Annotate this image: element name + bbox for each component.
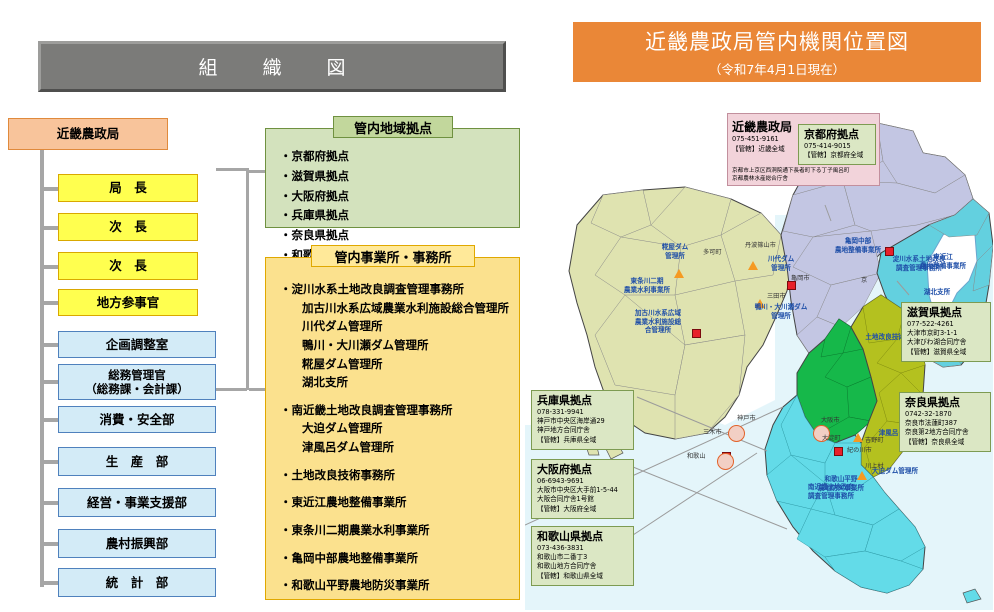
regional-bases-list: ・京都府拠点 ・滋賀県拠点 ・大阪府拠点 ・兵庫県拠点 ・奈良県拠点 ・和歌山県… bbox=[265, 128, 520, 228]
list-item[interactable]: ・東近江農地整備事業所 bbox=[280, 493, 509, 512]
kinki-hq-address-line2: 京都農林水産総合庁舎 bbox=[732, 175, 849, 183]
list-item[interactable]: ・亀岡中部農地整備事業所 bbox=[280, 549, 509, 568]
org-node-deputy-director-2[interactable]: 次 長 bbox=[58, 252, 198, 280]
list-item[interactable]: 津風呂ダム管理所 bbox=[280, 438, 509, 457]
page-root: 組 織 図 近畿農政局 局 長 次 長 次 長 地方参事官 企画調整室 総務管理… bbox=[0, 0, 994, 612]
org-trunk-line bbox=[40, 149, 44, 587]
org-rung bbox=[44, 301, 59, 305]
facility-label-kakogawa[interactable]: 加古川水系広域 農業水利施設総 合管理所 bbox=[621, 309, 695, 335]
city-label: 三木市 bbox=[703, 427, 722, 436]
list-item[interactable]: ・和歌山平野農地防災事業所 bbox=[280, 576, 509, 595]
org-node-regional-counselor[interactable]: 地方参事官 bbox=[58, 289, 198, 316]
base-jurisdiction: 【管轄】京都府全域 bbox=[804, 151, 870, 160]
offices-box: ・淀川水系土地改良調査管理事務所 加古川水系広域農業水利施設総合管理所 川代ダム… bbox=[265, 245, 520, 600]
kinki-hq-name: 近畿農政局 bbox=[732, 118, 792, 135]
facility-label-higashiomi[interactable]: 東近江 農地整備事業所 bbox=[905, 253, 981, 270]
facility-label-kohoku[interactable]: 湖北支所 bbox=[913, 288, 961, 297]
org-rung bbox=[44, 460, 59, 464]
org-node-root[interactable]: 近畿農政局 bbox=[8, 118, 168, 150]
org-node-production[interactable]: 生 産 部 bbox=[58, 447, 216, 476]
office-marker-square[interactable] bbox=[787, 281, 796, 290]
spacer bbox=[280, 392, 509, 401]
office-marker-square[interactable] bbox=[834, 447, 843, 456]
org-rung bbox=[44, 418, 59, 422]
map-title: 近畿農政局管内機関位置図 bbox=[645, 26, 909, 56]
branch-rung bbox=[216, 168, 247, 171]
list-item[interactable]: ・淀川水系土地改良調査管理事務所 bbox=[280, 280, 509, 299]
base-building: 神戸地方合同庁舎 bbox=[537, 426, 628, 435]
base-jurisdiction: 【管轄】奈良県全域 bbox=[905, 438, 985, 447]
org-node-rural-development[interactable]: 農村振興部 bbox=[58, 529, 216, 558]
map-subtitle: （令和7年4月1日現在） bbox=[709, 59, 845, 78]
base-building: 奈良第2地方合同庁舎 bbox=[905, 428, 985, 437]
base-jurisdiction: 【管轄】滋賀県全域 bbox=[907, 348, 985, 357]
city-label: 吉野町 bbox=[865, 435, 884, 444]
branch-rung bbox=[216, 388, 247, 391]
org-node-planning-office[interactable]: 企画調整室 bbox=[58, 331, 216, 358]
regional-bases-caption: 管内地域拠点 bbox=[333, 116, 453, 138]
kinki-hq-jurisdiction: 【管轄】近畿全域 bbox=[732, 145, 792, 155]
list-item[interactable]: ・京都府拠点 bbox=[280, 147, 509, 167]
city-label: 神戸市 bbox=[737, 413, 756, 422]
base-tel: 06-6943-9691 bbox=[537, 477, 628, 486]
city-label: 大淀町 bbox=[822, 433, 841, 442]
kinki-hq-address: 京都市上京区西洞院通下長者町下る丁子風呂町 京都農林水産総合庁舎 bbox=[732, 167, 849, 183]
facility-label-wakayama-plain[interactable]: 和歌山平野 農地防災事業所 bbox=[803, 475, 879, 492]
base-name: 奈良県拠点 bbox=[905, 396, 985, 410]
base-name: 兵庫県拠点 bbox=[537, 394, 628, 408]
org-rung bbox=[44, 380, 59, 384]
list-item[interactable]: ・南近畿土地改良調査管理事務所 bbox=[280, 401, 509, 420]
facility-label-kawadai-dam[interactable]: 川代ダム 管理所 bbox=[757, 255, 805, 272]
org-rung bbox=[44, 542, 59, 546]
facility-label-kameoka[interactable]: 亀岡中部 農地整備事業所 bbox=[820, 237, 896, 254]
city-label: 三田市 bbox=[767, 291, 786, 300]
map-header: 近畿農政局管内機関位置図 （令和7年4月1日現在） bbox=[573, 22, 981, 82]
base-building: 和歌山地方合同庁舎 bbox=[537, 562, 628, 571]
list-item[interactable]: 大迫ダム管理所 bbox=[280, 419, 509, 438]
facility-label-kojiya-dam[interactable]: 糀屋ダム 管理所 bbox=[647, 243, 703, 260]
base-callout-kyoto[interactable]: 京都府拠点 075-414-9015 【管轄】京都府全域 bbox=[798, 124, 876, 165]
list-item[interactable]: 加古川水系広域農業水利施設総合管理所 bbox=[280, 299, 509, 318]
base-building: 大阪合同庁舎1号館 bbox=[537, 495, 628, 504]
facility-label-kamogawa-dam[interactable]: 鴨川・大川瀬ダム 管理所 bbox=[747, 303, 815, 320]
base-callout-shiga[interactable]: 滋賀県拠点 077-522-4261 大津市京町3-1-1 大津びわ湖合同庁舎 … bbox=[901, 302, 991, 362]
org-rung bbox=[44, 265, 59, 269]
kinki-hq-address-line1: 京都市上京区西洞院通下長者町下る丁子風呂町 bbox=[732, 167, 849, 175]
spacer bbox=[280, 512, 509, 521]
spacer bbox=[280, 484, 509, 493]
city-label: 丹波篠山市 bbox=[745, 240, 776, 249]
city-label: 京 bbox=[861, 275, 867, 284]
city-marker-circle[interactable] bbox=[728, 425, 745, 442]
dam-marker-triangle[interactable] bbox=[853, 433, 863, 442]
city-label: 川上村 bbox=[865, 461, 884, 470]
base-tel: 073-436-3831 bbox=[537, 544, 628, 553]
org-node-director-general[interactable]: 局 長 bbox=[58, 174, 198, 202]
org-node-consumer-safety[interactable]: 消費・安全部 bbox=[58, 406, 216, 433]
city-label: 紀の川市 bbox=[847, 445, 872, 454]
spacer bbox=[280, 567, 509, 576]
org-node-deputy-director-1[interactable]: 次 長 bbox=[58, 213, 198, 241]
list-item[interactable]: 糀屋ダム管理所 bbox=[280, 355, 509, 374]
base-name: 大阪府拠点 bbox=[537, 463, 628, 477]
branch-trunk-line bbox=[246, 168, 249, 390]
city-label: 亀岡市 bbox=[791, 273, 810, 282]
spacer bbox=[280, 540, 509, 549]
city-label: 大阪市 bbox=[821, 415, 840, 424]
base-jurisdiction: 【管轄】兵庫県全域 bbox=[537, 436, 628, 445]
city-label: 多可町 bbox=[703, 247, 722, 256]
offices-caption: 管内事業所・事務所 bbox=[311, 245, 475, 267]
base-tel: 077-522-4261 bbox=[907, 320, 985, 329]
base-jurisdiction: 【管轄】和歌山県全域 bbox=[537, 572, 628, 581]
list-item[interactable]: ・東条川二期農業水利事業所 bbox=[280, 521, 509, 540]
city-marker-circle[interactable] bbox=[717, 453, 734, 470]
list-item[interactable]: 川代ダム管理所 bbox=[280, 317, 509, 336]
list-item[interactable]: 鴨川・大川瀬ダム管理所 bbox=[280, 336, 509, 355]
base-jurisdiction: 【管轄】大阪府全域 bbox=[537, 505, 628, 514]
base-tel: 075-414-9015 bbox=[804, 142, 870, 151]
facility-label-tojogawa[interactable]: 東条川二期 農業水利事業所 bbox=[611, 277, 683, 294]
org-rung bbox=[44, 343, 59, 347]
org-rung bbox=[44, 226, 59, 230]
org-node-general-affairs-line2: （総務課・会計課） bbox=[85, 382, 189, 396]
regional-bases-box: ・京都府拠点 ・滋賀県拠点 ・大阪府拠点 ・兵庫県拠点 ・奈良県拠点 ・和歌山県… bbox=[265, 116, 520, 228]
org-rung bbox=[44, 501, 59, 505]
base-tel: 078-331-9941 bbox=[537, 408, 628, 417]
base-callout-hyogo[interactable]: 兵庫県拠点 078-331-9941 神戸市中央区海岸通29 神戸地方合同庁舎 … bbox=[531, 390, 634, 450]
base-name: 滋賀県拠点 bbox=[907, 306, 985, 320]
list-item[interactable]: ・奈良県拠点 bbox=[280, 226, 509, 246]
list-item[interactable]: ・滋賀県拠点 bbox=[280, 167, 509, 187]
base-name: 京都府拠点 bbox=[804, 128, 870, 142]
list-item[interactable]: ・兵庫県拠点 bbox=[280, 206, 509, 226]
base-callout-wakayama[interactable]: 和歌山県拠点 073-436-3831 和歌山市二番丁3 和歌山地方合同庁舎 【… bbox=[531, 526, 634, 586]
spacer bbox=[280, 457, 509, 466]
list-item[interactable]: 湖北支所 bbox=[280, 373, 509, 392]
city-label: 和歌山 bbox=[687, 451, 706, 460]
offices-list: ・淀川水系土地改良調査管理事務所 加古川水系広域農業水利施設総合管理所 川代ダム… bbox=[265, 257, 520, 600]
base-callout-nara[interactable]: 奈良県拠点 0742-32-1870 奈良市法蓮町387 奈良第2地方合同庁舎 … bbox=[899, 392, 991, 452]
base-name: 和歌山県拠点 bbox=[537, 530, 628, 544]
base-callout-osaka[interactable]: 大阪府拠点 06-6943-9691 大阪市中央区大手前1-5-44 大阪合同庁… bbox=[531, 459, 634, 519]
org-rung bbox=[44, 187, 59, 191]
org-chart-title: 組 織 図 bbox=[38, 41, 506, 92]
base-tel: 0742-32-1870 bbox=[905, 410, 985, 419]
kinki-hq-tel: 075-451-9161 bbox=[732, 135, 792, 145]
kinki-hq-info: 近畿農政局 075-451-9161 【管轄】近畿全域 bbox=[732, 118, 792, 154]
org-node-statistics[interactable]: 統 計 部 bbox=[58, 568, 216, 597]
list-item[interactable]: ・大阪府拠点 bbox=[280, 187, 509, 207]
org-node-management-support[interactable]: 経営・事業支援部 bbox=[58, 488, 216, 517]
org-rung bbox=[44, 581, 59, 585]
org-node-general-affairs[interactable]: 総務管理官 （総務課・会計課） bbox=[58, 364, 216, 400]
base-building: 大津びわ湖合同庁舎 bbox=[907, 338, 985, 347]
list-item[interactable]: ・土地改良技術事務所 bbox=[280, 466, 509, 485]
org-node-general-affairs-line1: 総務管理官 bbox=[108, 368, 166, 382]
